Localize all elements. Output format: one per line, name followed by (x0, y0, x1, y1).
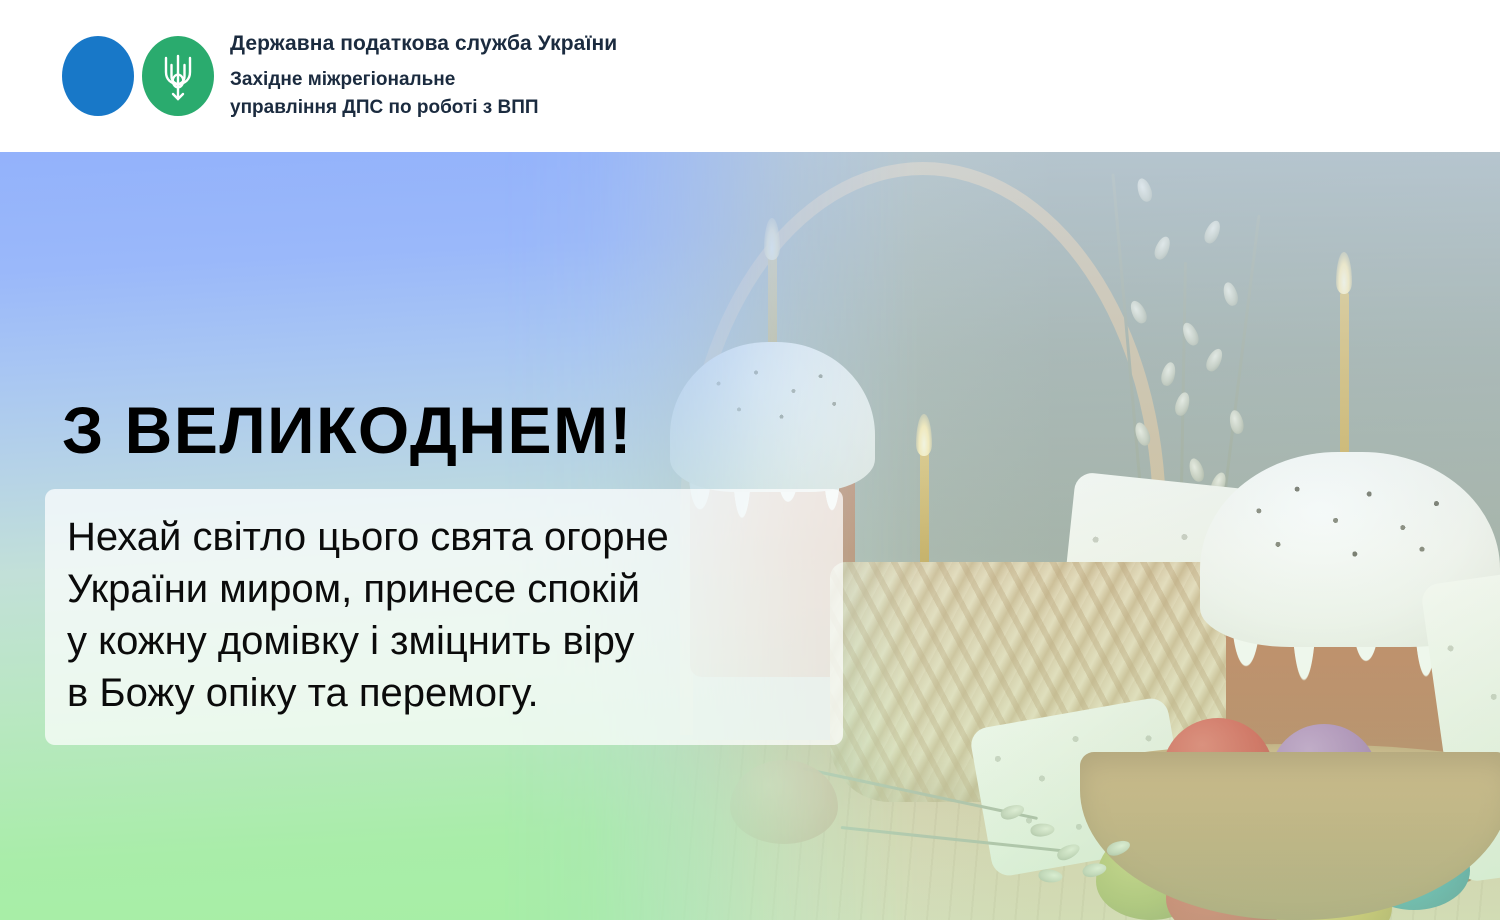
agency-title: Державна податкова служба України (230, 31, 617, 57)
agency-logo (62, 36, 202, 116)
ukraine-trident-icon (158, 50, 198, 102)
greeting-line-3: у кожну домівку і зміцнить віру (67, 615, 817, 667)
greeting-message-box: Нехай світло цього свята огорне України … (45, 489, 843, 745)
poster-stage: З ВЕЛИКОДНЕМ! Нехай світло цього свята о… (0, 152, 1500, 920)
page-title: З ВЕЛИКОДНЕМ! (62, 392, 633, 468)
greeting-line-2: України миром, принесе спокій (67, 563, 817, 615)
agency-department: Західне міжрегіональне управління ДПС по… (230, 66, 617, 121)
greeting-line-1: Нехай світло цього свята огорне (67, 511, 817, 563)
agency-name-block: Державна податкова служба України Західн… (230, 31, 617, 121)
agency-department-line-1: Західне міжрегіональне (230, 66, 617, 94)
greeting-line-4: в Божу опіку та перемогу. (67, 667, 817, 719)
agency-department-line-2: управління ДПС по роботі з ВПП (230, 94, 617, 122)
page-header: Державна податкова служба України Західн… (0, 0, 1500, 152)
blue-circle-icon (62, 36, 134, 116)
easter-greeting-poster: Державна податкова служба України Західн… (0, 0, 1500, 920)
